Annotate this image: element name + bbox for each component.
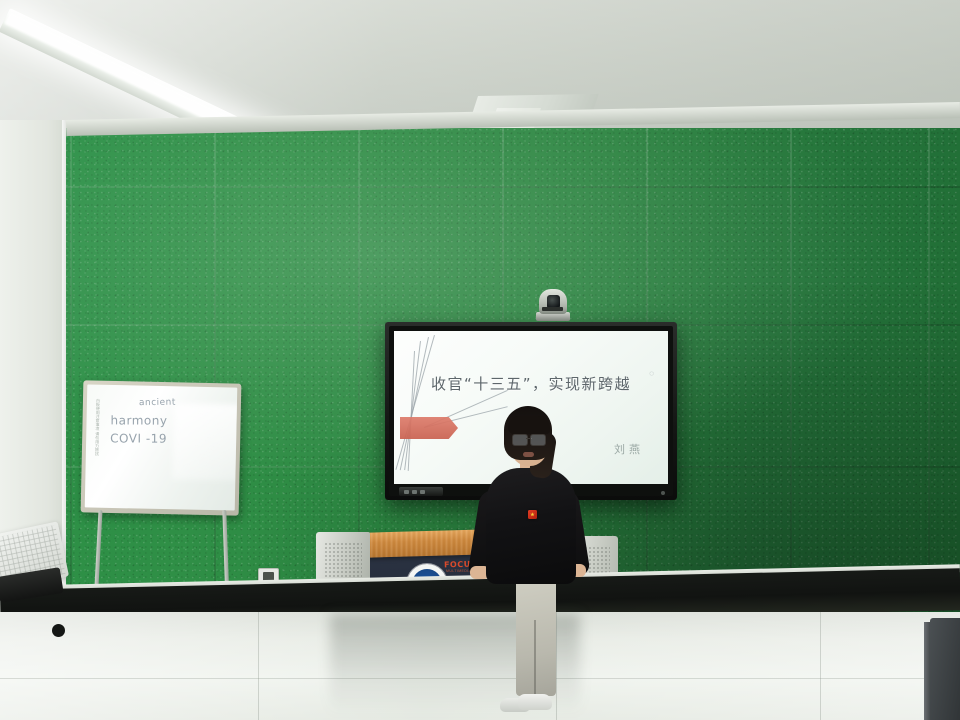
panel-seam-vertical <box>790 128 792 638</box>
classroom-scene: 白板使用注意事项 请勿用力擦拭 ancient harmony COVI -19… <box>0 0 960 720</box>
lectern-brand-subtitle: MULTIMEDIA <box>446 569 471 573</box>
whiteboard-glare <box>172 403 237 481</box>
slide-superscript-mark: ◌ <box>649 369 654 378</box>
slide-title: 收官“十三五”，实现新跨越 <box>394 373 668 394</box>
whiteboard-line-1: ancient <box>139 398 176 409</box>
chair-leg <box>0 589 55 633</box>
chair-caster <box>52 624 65 637</box>
presenter-trouser-seam <box>534 620 536 696</box>
presenter-sweater <box>486 468 576 584</box>
stacked-chairs[interactable] <box>0 528 70 638</box>
slide-decor-line <box>408 351 415 471</box>
panel-seam-vertical <box>70 128 72 638</box>
presenter-shoe-right <box>518 694 552 710</box>
party-emblem-badge-icon <box>528 510 537 519</box>
eyeglasses-icon <box>512 434 546 444</box>
presenter-trousers <box>516 578 556 696</box>
right-cabinet[interactable] <box>930 618 960 720</box>
panel-seam-horizontal <box>66 186 960 188</box>
presenter-mouth <box>523 452 534 457</box>
whiteboard-line-3: COVI -19 <box>110 431 167 445</box>
whiteboard-line-2: harmony <box>111 413 168 427</box>
whiteboard-frame: 白板使用注意事项 请勿用力擦拭 ancient harmony COVI -19 <box>81 380 242 515</box>
panel-seam-vertical <box>928 128 930 638</box>
display-control-buttons[interactable] <box>399 487 443 496</box>
floor-tile-line <box>820 612 821 720</box>
floor-tile-line <box>258 612 259 720</box>
slide-presenter-name: 刘燕 <box>614 441 644 457</box>
slide-arrow-banner <box>400 417 458 439</box>
slide-decor-line <box>395 335 435 470</box>
presenter-fringe <box>508 416 550 434</box>
whiteboard-side-label: 白板使用注意事项 请勿用力擦拭 <box>92 399 103 495</box>
whiteboard-surface[interactable]: 白板使用注意事项 请勿用力擦拭 ancient harmony COVI -19 <box>85 384 238 510</box>
camera-indicator-strip <box>542 307 563 311</box>
power-led-icon <box>661 491 665 495</box>
